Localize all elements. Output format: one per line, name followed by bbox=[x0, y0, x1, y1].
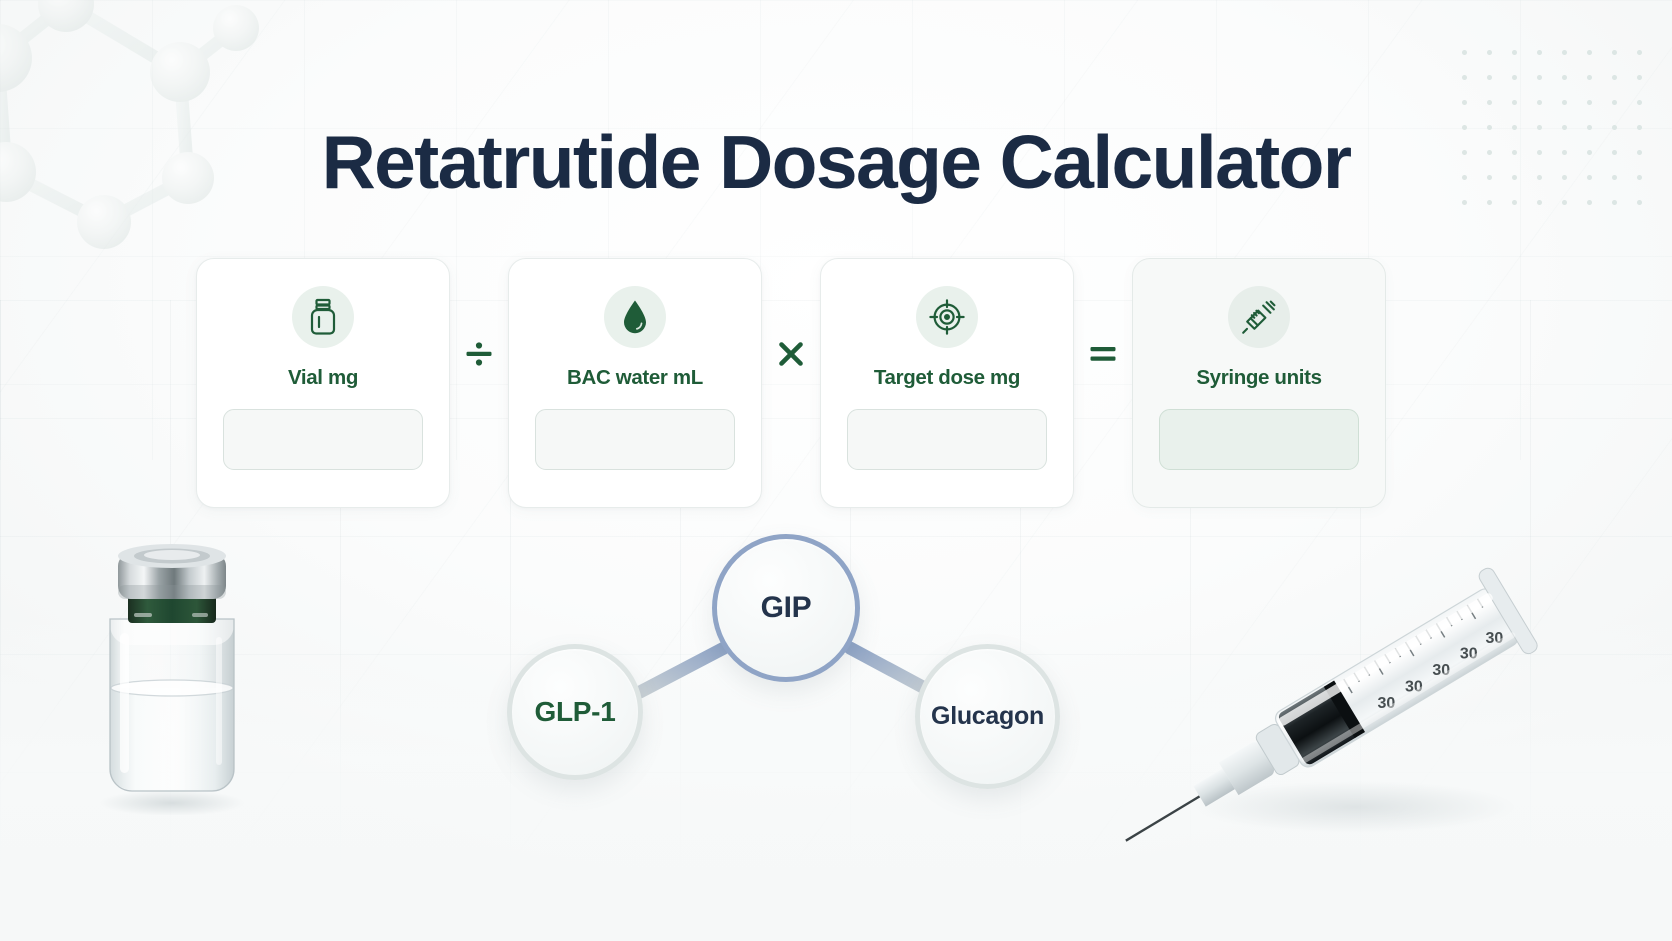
card-label: Syringe units bbox=[1196, 366, 1321, 390]
target-dose-mg-input[interactable] bbox=[847, 409, 1047, 470]
multiply-operator bbox=[762, 258, 820, 508]
peptide-node-diagram: GIP GLP-1 Glucagon bbox=[490, 520, 1110, 810]
page-title: Retatrutide Dosage Calculator bbox=[0, 124, 1672, 201]
card-label: Vial mg bbox=[288, 366, 358, 390]
card-bac-water-ml[interactable]: BAC water mL bbox=[508, 258, 762, 508]
node-label: GIP bbox=[761, 591, 812, 625]
vial-mg-input[interactable] bbox=[223, 409, 423, 470]
formula-strip: Vial mg BAC water mL bbox=[196, 258, 1386, 508]
water-droplet-icon bbox=[604, 286, 666, 348]
node-label: Glucagon bbox=[931, 702, 1044, 731]
divide-operator bbox=[450, 258, 508, 508]
insulin-syringe-image: 30 30 30 30 30 bbox=[1085, 555, 1585, 865]
card-label: BAC water mL bbox=[567, 366, 703, 390]
node-glp1[interactable]: GLP-1 bbox=[507, 644, 643, 780]
glass-vial-image bbox=[88, 525, 256, 815]
syringe-units-output[interactable] bbox=[1159, 409, 1359, 470]
node-glucagon[interactable]: Glucagon bbox=[915, 644, 1060, 789]
bac-water-ml-input[interactable] bbox=[535, 409, 735, 470]
syringe-icon bbox=[1228, 286, 1290, 348]
card-label: Target dose mg bbox=[874, 366, 1020, 390]
node-label: GLP-1 bbox=[535, 696, 616, 728]
hero-canvas: Retatrutide Dosage Calculator Vial mg bbox=[0, 0, 1672, 941]
equals-operator bbox=[1074, 258, 1132, 508]
card-vial-mg[interactable]: Vial mg bbox=[196, 258, 450, 508]
card-syringe-units[interactable]: Syringe units bbox=[1132, 258, 1386, 508]
node-gip[interactable]: GIP bbox=[712, 534, 860, 682]
card-target-dose-mg[interactable]: Target dose mg bbox=[820, 258, 1074, 508]
vial-icon bbox=[292, 286, 354, 348]
target-crosshair-icon bbox=[916, 286, 978, 348]
